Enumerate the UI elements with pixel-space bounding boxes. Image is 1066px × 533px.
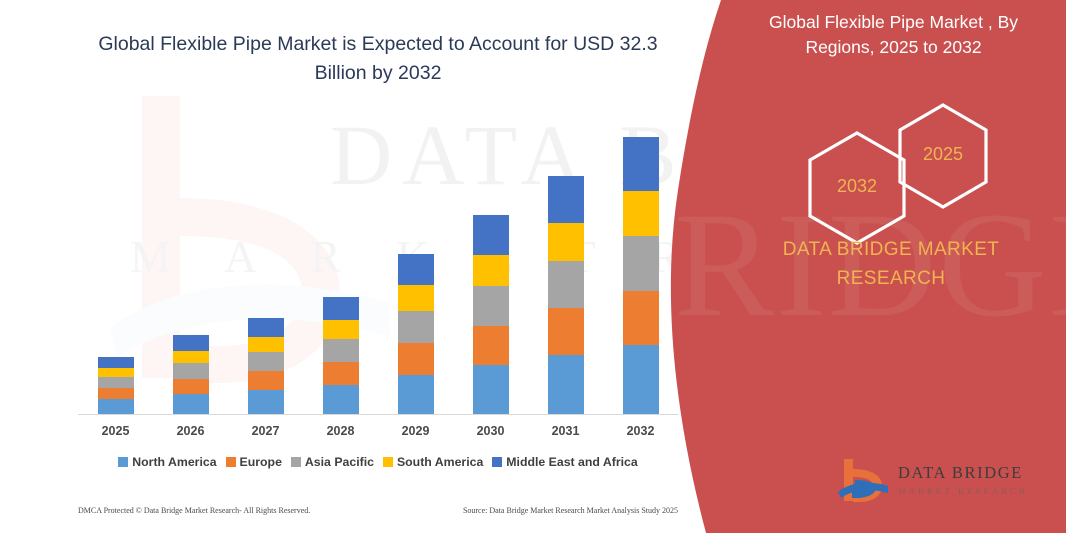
stacked-bar: [173, 335, 209, 414]
hexagon-badge-2032: 2032: [804, 128, 910, 248]
legend-label: South America: [397, 455, 483, 469]
bar-segment: [548, 176, 584, 223]
bar-segment: [623, 345, 659, 414]
stacked-bar: [398, 254, 434, 414]
company-logo: DATA BRIDGE MARKET RESEARCH: [836, 455, 1051, 511]
bar-segment: [398, 285, 434, 311]
bar-segment: [248, 390, 284, 414]
red-panel-content: Global Flexible Pipe Market , By Regions…: [666, 0, 1066, 533]
bar-segment: [623, 291, 659, 346]
bar-segment: [473, 215, 509, 254]
bar-segment: [548, 261, 584, 308]
infographic-canvas: DATA BRIDGE M A R K E T R E S E A R C H …: [0, 0, 1066, 533]
bar-segment: [248, 371, 284, 390]
bar-segment: [548, 223, 584, 261]
bar-segment: [173, 351, 209, 364]
bar-segment: [623, 191, 659, 236]
legend-swatch-icon: [291, 457, 301, 467]
bar-segment: [623, 236, 659, 291]
hexagon-badges: 2025 2032: [786, 100, 1046, 225]
bar-segment: [323, 297, 359, 320]
x-axis-tick-labels: 20252026202720282029203020312032: [78, 424, 678, 438]
bar-segment: [473, 326, 509, 365]
footer-copyright: DMCA Protected © Data Bridge Market Rese…: [78, 506, 310, 515]
stacked-bar: [548, 176, 584, 414]
bar-group: [78, 110, 678, 414]
red-panel-title: Global Flexible Pipe Market , By Regions…: [746, 10, 1041, 61]
stacked-bar: [248, 318, 284, 414]
bar-segment: [473, 286, 509, 325]
bar-column: [230, 110, 302, 414]
bar-segment: [323, 385, 359, 414]
bar-segment: [548, 355, 584, 414]
x-axis-label: 2031: [530, 424, 602, 438]
bar-segment: [548, 308, 584, 355]
bar-segment: [98, 377, 134, 388]
stacked-bar: [473, 215, 509, 414]
bar-segment: [173, 363, 209, 378]
legend-swatch-icon: [492, 457, 502, 467]
chart-legend: North AmericaEuropeAsia PacificSouth Ame…: [78, 455, 678, 469]
bar-segment: [248, 352, 284, 371]
bar-segment: [98, 388, 134, 399]
bar-column: [455, 110, 527, 414]
legend-swatch-icon: [226, 457, 236, 467]
stacked-bar: [323, 297, 359, 414]
bar-segment: [98, 368, 134, 377]
bar-segment: [398, 311, 434, 343]
footer-source: Source: Data Bridge Market Research Mark…: [463, 506, 678, 515]
logo-wordmark: DATA BRIDGE MARKET RESEARCH: [898, 463, 1028, 496]
bar-segment: [173, 394, 209, 414]
legend-item[interactable]: Middle East and Africa: [492, 455, 637, 469]
brand-line-2: RESEARCH: [741, 265, 1041, 294]
legend-swatch-icon: [118, 457, 128, 467]
brand-name: DATA BRIDGE MARKET RESEARCH: [741, 236, 1041, 293]
bar-segment: [248, 318, 284, 337]
brand-line-1: DATA BRIDGE MARKET: [741, 236, 1041, 265]
bar-segment: [323, 339, 359, 362]
legend-item[interactable]: South America: [383, 455, 483, 469]
plot-area: [78, 110, 678, 415]
x-axis-label: 2027: [230, 424, 302, 438]
footer: DMCA Protected © Data Bridge Market Rese…: [78, 506, 678, 515]
bar-segment: [248, 337, 284, 352]
bar-segment: [473, 255, 509, 287]
stacked-bar: [98, 357, 134, 414]
data-bridge-logo-icon: [836, 455, 892, 507]
logo-name: DATA BRIDGE: [898, 463, 1028, 483]
bar-segment: [398, 375, 434, 414]
legend-label: Europe: [240, 455, 282, 469]
bar-column: [380, 110, 452, 414]
legend-label: Middle East and Africa: [506, 455, 637, 469]
bar-segment: [98, 357, 134, 368]
bar-column: [530, 110, 602, 414]
stacked-bar-chart: [78, 110, 678, 415]
x-axis-label: 2028: [305, 424, 377, 438]
stacked-bar: [623, 137, 659, 414]
x-axis-label: 2026: [155, 424, 227, 438]
bar-column: [80, 110, 152, 414]
legend-item[interactable]: Asia Pacific: [291, 455, 374, 469]
bar-segment: [323, 320, 359, 339]
x-axis-label: 2030: [455, 424, 527, 438]
bar-segment: [323, 362, 359, 385]
x-axis-line: [78, 414, 678, 415]
hexagon-label-2032: 2032: [804, 176, 910, 197]
x-axis-label: 2029: [380, 424, 452, 438]
legend-item[interactable]: Europe: [226, 455, 282, 469]
bar-segment: [398, 343, 434, 375]
right-red-panel: RIDGE Global Flexible Pipe Market , By R…: [666, 0, 1066, 533]
legend-item[interactable]: North America: [118, 455, 216, 469]
bar-column: [155, 110, 227, 414]
bar-segment: [173, 335, 209, 350]
bar-segment: [473, 365, 509, 414]
legend-swatch-icon: [383, 457, 393, 467]
bar-segment: [173, 379, 209, 394]
bar-column: [305, 110, 377, 414]
bar-segment: [623, 137, 659, 191]
legend-label: Asia Pacific: [305, 455, 374, 469]
bar-segment: [98, 399, 134, 414]
x-axis-label: 2025: [80, 424, 152, 438]
page-title: Global Flexible Pipe Market is Expected …: [78, 30, 678, 88]
legend-label: North America: [132, 455, 216, 469]
bar-segment: [398, 254, 434, 286]
logo-tagline: MARKET RESEARCH: [898, 486, 1028, 496]
